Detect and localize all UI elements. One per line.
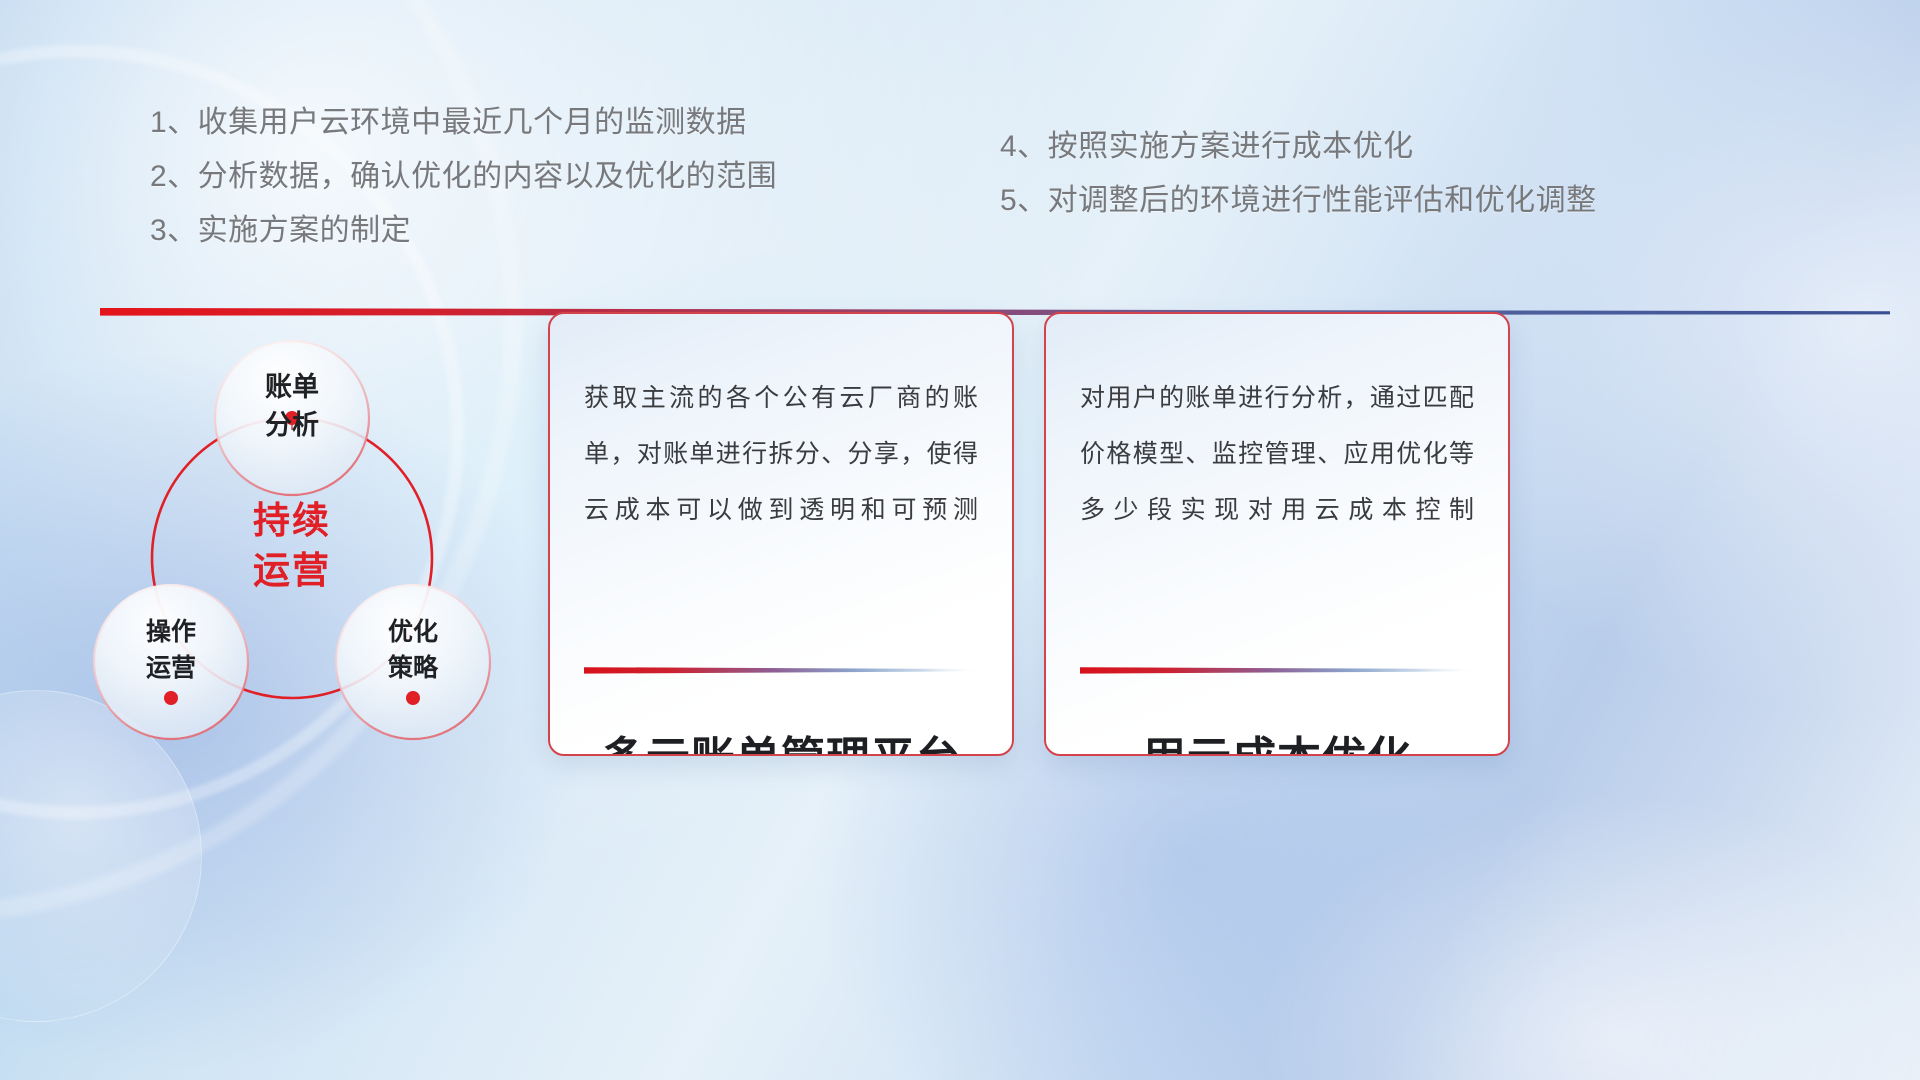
bubble-label-billing-analysis: 账单 分析	[215, 368, 369, 444]
card-divider	[1080, 662, 1474, 671]
bullet-item-5: 5、对调整后的环境进行性能评估和优化调整	[1000, 174, 1597, 228]
card-body-text: 对用户的账单进行分析，通过匹配价格模型、监控管理、应用优化等多少段实现对用云成本…	[1080, 370, 1474, 538]
center-label-line1: 持续	[215, 496, 369, 546]
center-label-line2: 运营	[215, 546, 369, 596]
card-divider-icon	[584, 665, 978, 675]
card-title: 多云账单管理平台	[584, 722, 978, 756]
card-divider-icon	[1080, 665, 1474, 675]
card-divider	[584, 662, 978, 671]
bullet-lists: 1、收集用户云环境中最近几个月的监测数据 2、分析数据，确认优化的内容以及优化的…	[0, 0, 1920, 300]
bullet-item-2: 2、分析数据，确认优化的内容以及优化的范围	[150, 150, 777, 204]
node-dot-right	[406, 691, 420, 705]
bubble-label-line2: 运营	[94, 650, 248, 686]
bullet-item-4: 4、按照实施方案进行成本优化	[1000, 120, 1597, 174]
bullet-item-1: 1、收集用户云环境中最近几个月的监测数据	[150, 96, 777, 150]
node-dot-left	[164, 691, 178, 705]
bubble-label-line1: 账单	[215, 368, 369, 406]
bubble-label-line1: 操作	[94, 614, 248, 650]
bubble-label-line2: 分析	[215, 406, 369, 444]
bullet-item-3: 3、实施方案的制定	[150, 204, 777, 258]
card-title: 用云成本优化	[1080, 722, 1474, 756]
card-cloud-cost-optimization[interactable]: 对用户的账单进行分析，通过匹配价格模型、监控管理、应用优化等多少段实现对用云成本…	[1044, 312, 1510, 756]
bullet-list-left: 1、收集用户云环境中最近几个月的监测数据 2、分析数据，确认优化的内容以及优化的…	[150, 96, 777, 258]
bubble-label-line2: 策略	[336, 650, 490, 686]
diagram-center-label: 持续 运营	[215, 496, 369, 596]
bubble-label-optimization-strategy: 优化 策略	[336, 614, 490, 686]
bubble-label-line1: 优化	[336, 614, 490, 650]
card-multi-cloud-billing-platform[interactable]: 获取主流的各个公有云厂商的账单，对账单进行拆分、分享，使得云成本可以做到透明和可…	[548, 312, 1014, 756]
card-body-text: 获取主流的各个公有云厂商的账单，对账单进行拆分、分享，使得云成本可以做到透明和可…	[584, 370, 978, 538]
bubble-label-operations: 操作 运营	[94, 614, 248, 686]
bullet-list-right: 4、按照实施方案进行成本优化 5、对调整后的环境进行性能评估和优化调整	[1000, 120, 1597, 228]
continuous-operation-diagram: 账单 分析 操作 运营 优化 策略 持续 运营	[70, 270, 540, 790]
